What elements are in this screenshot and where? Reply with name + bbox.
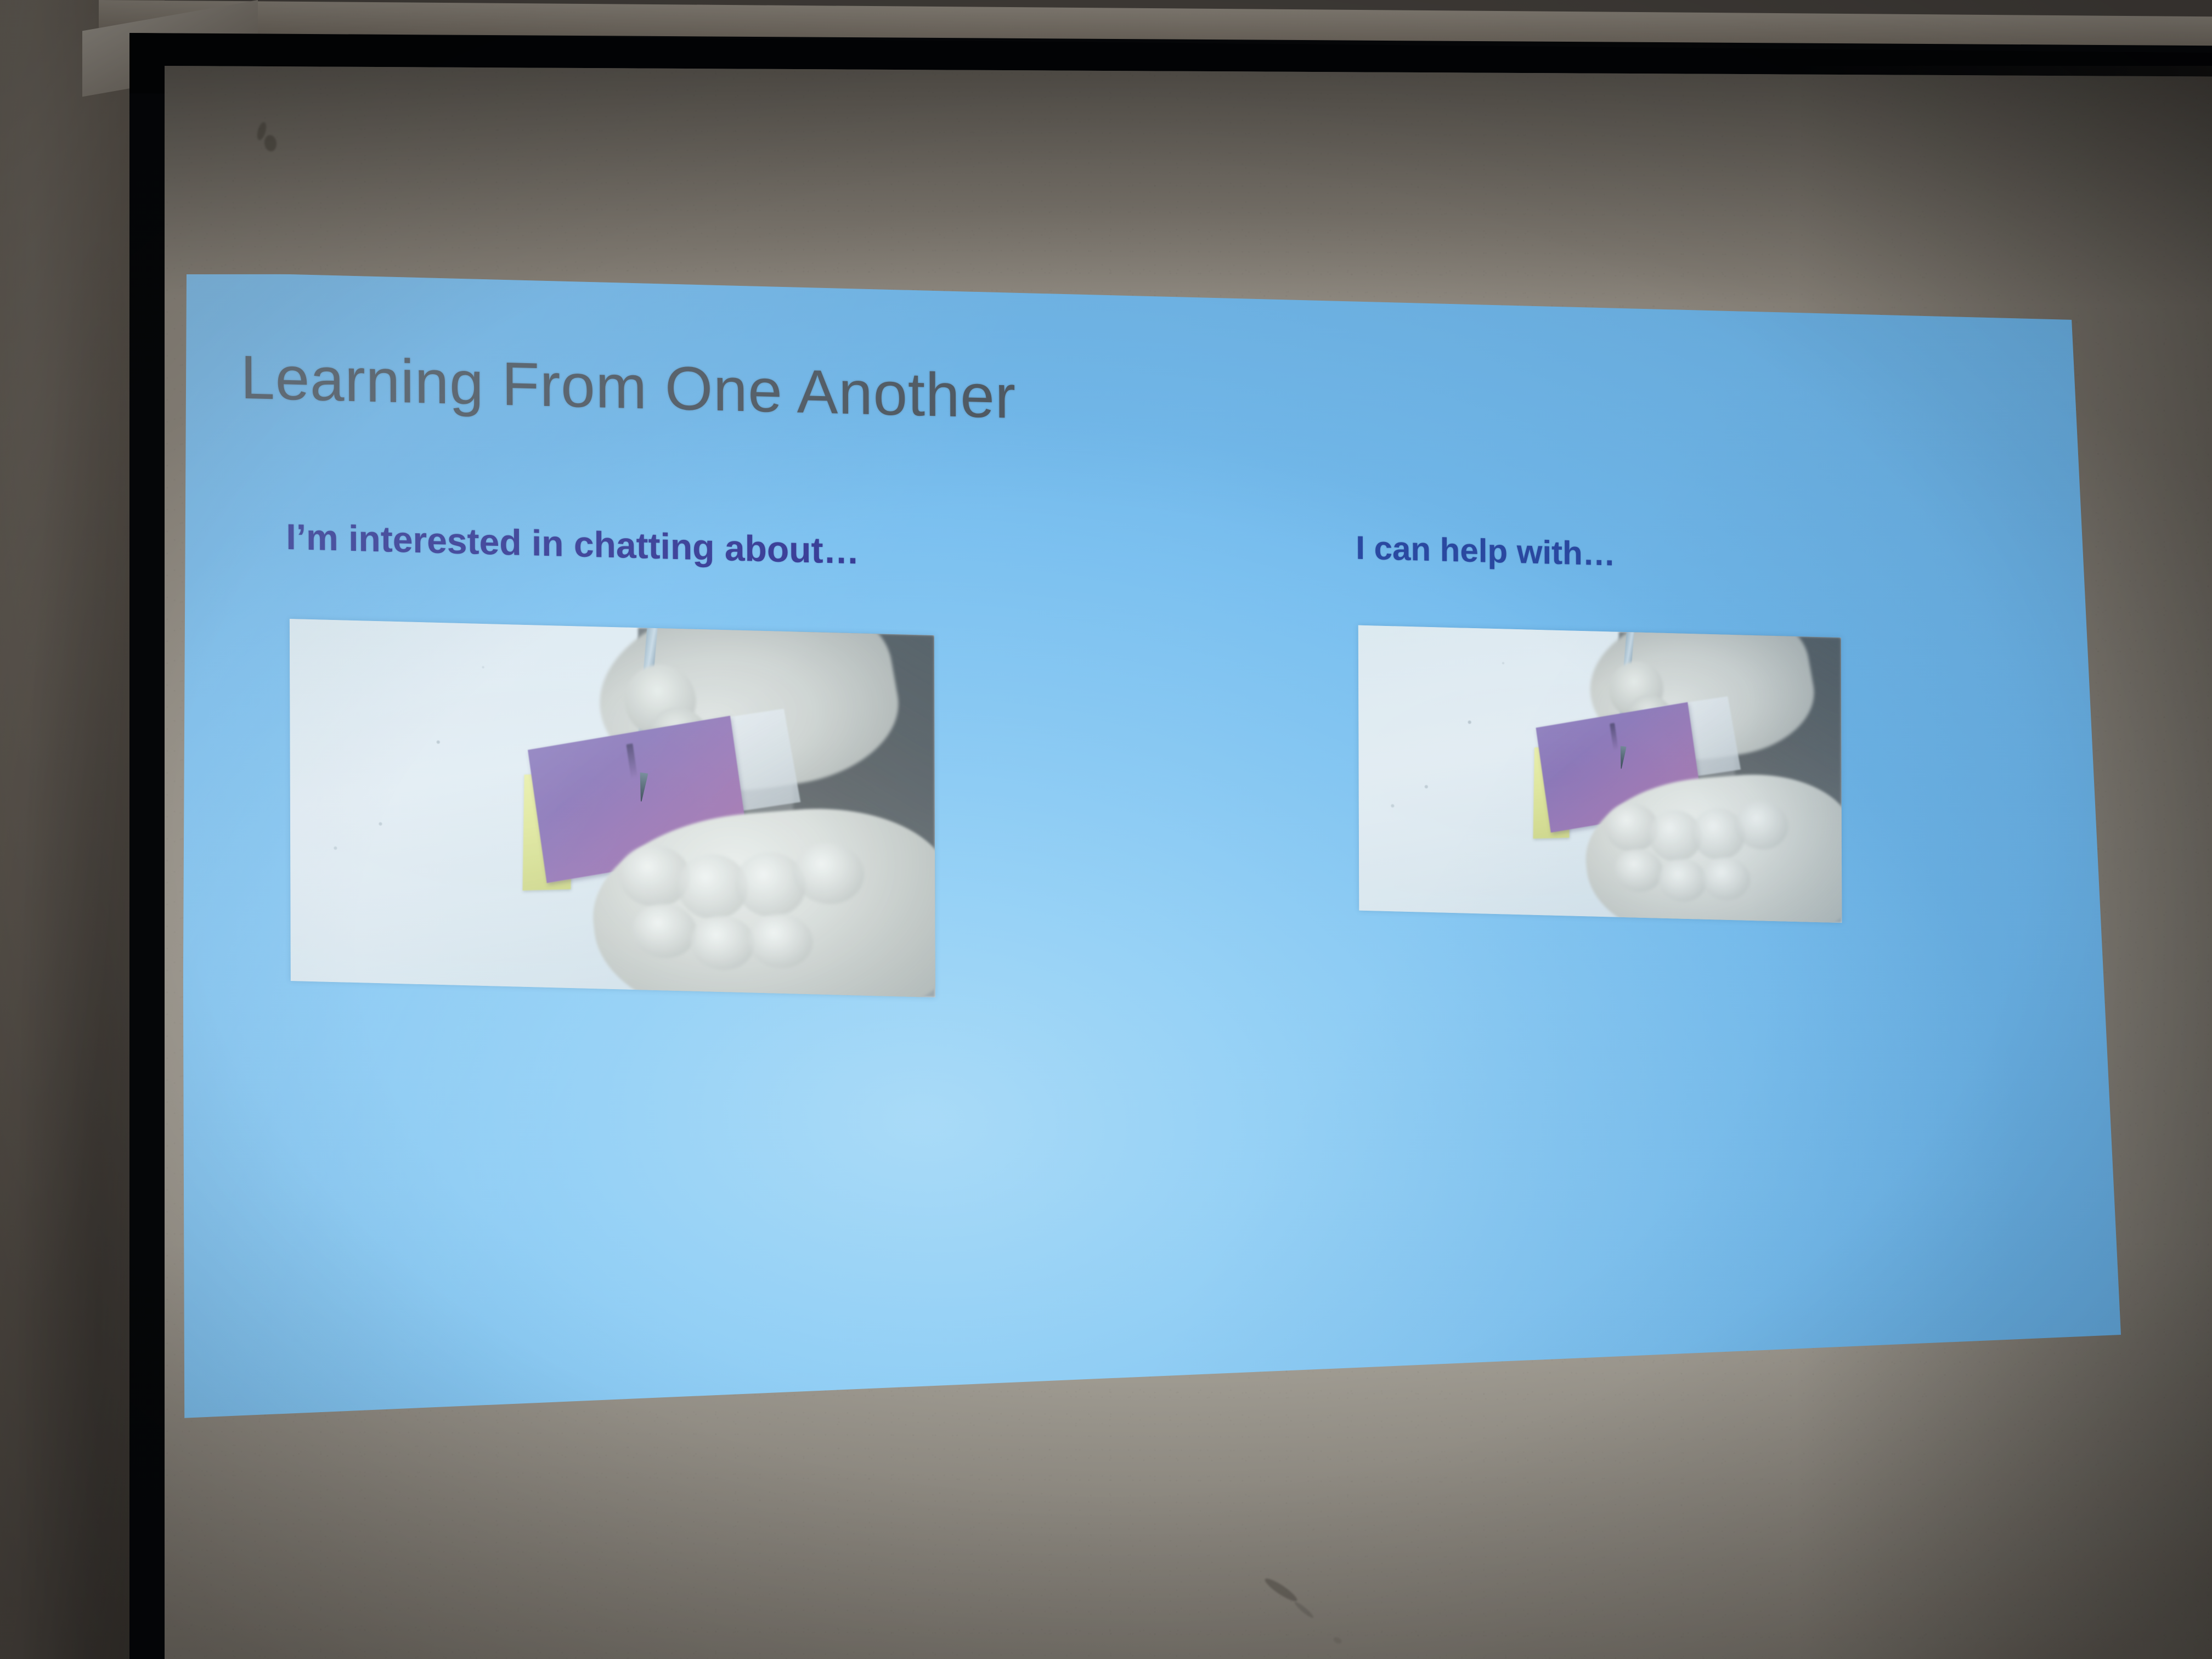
photo-projection-tint	[1358, 625, 1842, 923]
photo-projection-tint	[290, 619, 935, 997]
slide-photo-right	[1358, 625, 1842, 923]
photo-scene-right	[1358, 625, 1842, 923]
slide-photo-left	[290, 619, 935, 997]
projector-room-photo: Learning From One Another I’m interested…	[0, 0, 2212, 1659]
slide-title: Learning From One Another	[240, 342, 1016, 432]
photo-scene-left	[290, 619, 935, 997]
column-heading-right: I can help with…	[1356, 529, 1616, 573]
presentation-slide: Learning From One Another I’m interested…	[181, 272, 2129, 1473]
column-heading-left: I’m interested in chatting about…	[286, 516, 859, 572]
